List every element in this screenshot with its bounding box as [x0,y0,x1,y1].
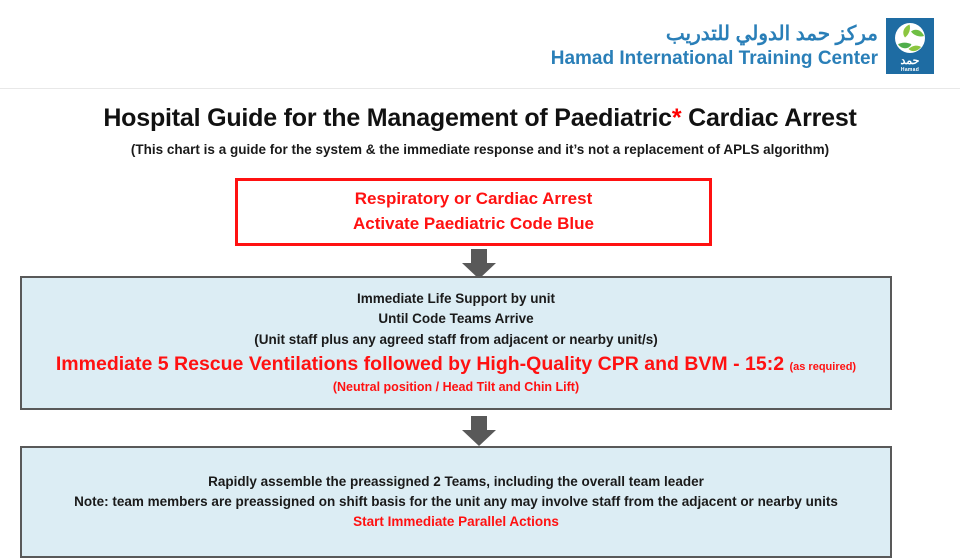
brand-text: مركز حمد الدولي للتدريب Hamad Internatio… [551,23,878,69]
org-name-arabic: مركز حمد الدولي للتدريب [551,23,878,45]
step2-line-4: Immediate 5 Rescue Ventilations followed… [56,350,856,378]
brand-header: مركز حمد الدولي للتدريب Hamad Internatio… [551,18,934,74]
step3-line-1: Rapidly assemble the preassigned 2 Teams… [208,472,704,492]
step1-line-1: Respiratory or Cardiac Arrest [355,187,592,212]
paediatric-asterisk: * [672,104,682,132]
step3-line-2: Note: team members are preassigned on sh… [36,492,876,512]
arrow-head [462,430,496,446]
step2-line-5: (Neutral position / Head Tilt and Chin L… [333,378,579,397]
logo-english-text: Hamad [886,68,934,73]
page-title-part-2: Cardiac Arrest [681,104,856,132]
step2-line-4-main: Immediate 5 Rescue Ventilations followed… [56,353,784,375]
step3-line-3: Start Immediate Parallel Actions [353,512,559,532]
arrow-shaft [471,249,487,264]
page-title-part-1: Hospital Guide for the Management of Pae… [103,104,671,132]
hamad-logo-icon: حمد Hamad [886,18,934,74]
flow-step-assemble-teams: Rapidly assemble the preassigned 2 Teams… [20,446,892,558]
arrow-shaft [471,416,487,431]
flow-step-arrest-activation: Respiratory or Cardiac Arrest Activate P… [235,178,712,246]
step1-line-2: Activate Paediatric Code Blue [353,212,594,237]
logo-arabic-text: حمد [886,56,934,67]
down-arrow-icon-2 [462,416,496,446]
page-title: Hospital Guide for the Management of Pae… [0,104,960,133]
down-arrow-icon-1 [462,249,496,279]
leaf-emblem-icon [886,21,934,57]
step2-line-4-note: (as required) [789,361,856,373]
flow-step-immediate-life-support: Immediate Life Support by unit Until Cod… [20,276,892,410]
org-name-english: Hamad International Training Center [551,48,878,69]
step2-line-1: Immediate Life Support by unit [357,289,555,309]
page-subtitle: (This chart is a guide for the system & … [0,142,960,157]
header-divider [0,88,960,89]
step2-line-2: Until Code Teams Arrive [378,309,533,329]
step2-line-3: (Unit staff plus any agreed staff from a… [254,330,658,350]
